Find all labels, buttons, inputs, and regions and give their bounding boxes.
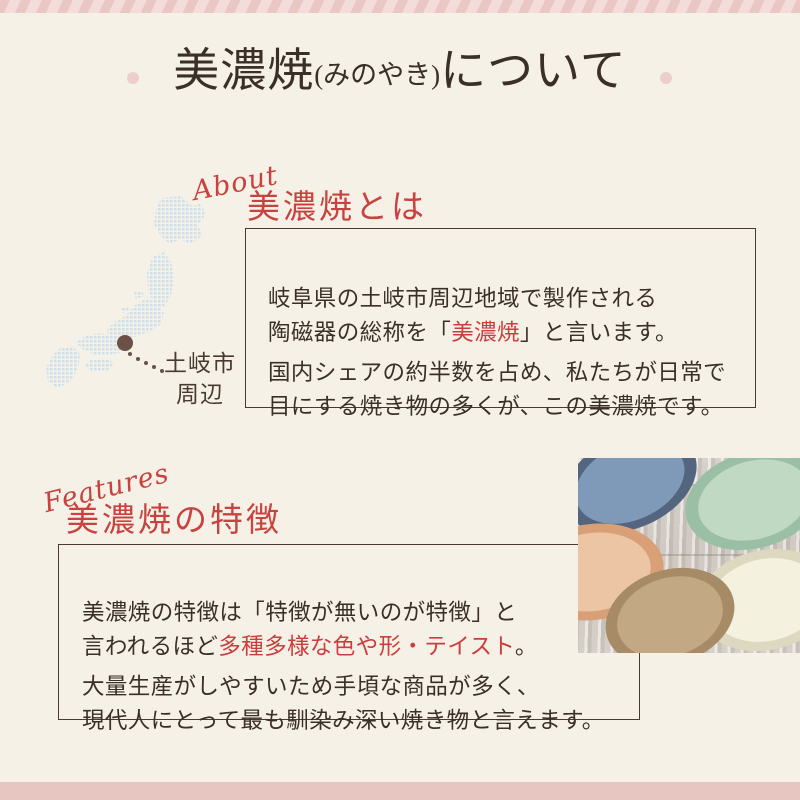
minoyaki-oval-plates-photo bbox=[578, 458, 800, 653]
page-title-main: 美濃焼 bbox=[173, 45, 314, 96]
about-p2-text: 国内シェアの約半数を占め、私たちが日常で 目にする焼き物の多くが、この美濃焼です… bbox=[268, 360, 726, 419]
section-heading-features: 美濃焼の特徴 bbox=[66, 493, 282, 541]
page-root: 美濃焼(みのやき)について About 美濃焼とは 岐阜県の土岐市周辺地域で製作… bbox=[0, 0, 800, 800]
section-heading-about: 美濃焼とは bbox=[247, 180, 427, 228]
bottom-pink-band bbox=[0, 782, 800, 800]
map-label-toki: 土岐市 周辺 bbox=[155, 348, 245, 410]
page-title-kana: (みのやき) bbox=[314, 60, 440, 90]
features-paragraph-2: 大量生産がしやすいため手頃な商品が多く、 現代人にとって最も馴染み深い焼き物と言… bbox=[82, 636, 627, 738]
features-p2-text: 大量生産がしやすいため手頃な商品が多く、 現代人にとって最も馴染み深い焼き物と言… bbox=[82, 674, 605, 733]
page-title-tail: について bbox=[440, 45, 627, 96]
about-paragraph-2: 国内シェアの約半数を占め、私たちが日常で 目にする焼き物の多くが、この美濃焼です… bbox=[268, 322, 748, 424]
page-title: 美濃焼(みのやき)について bbox=[0, 48, 800, 94]
top-stripe-band bbox=[0, 0, 800, 13]
